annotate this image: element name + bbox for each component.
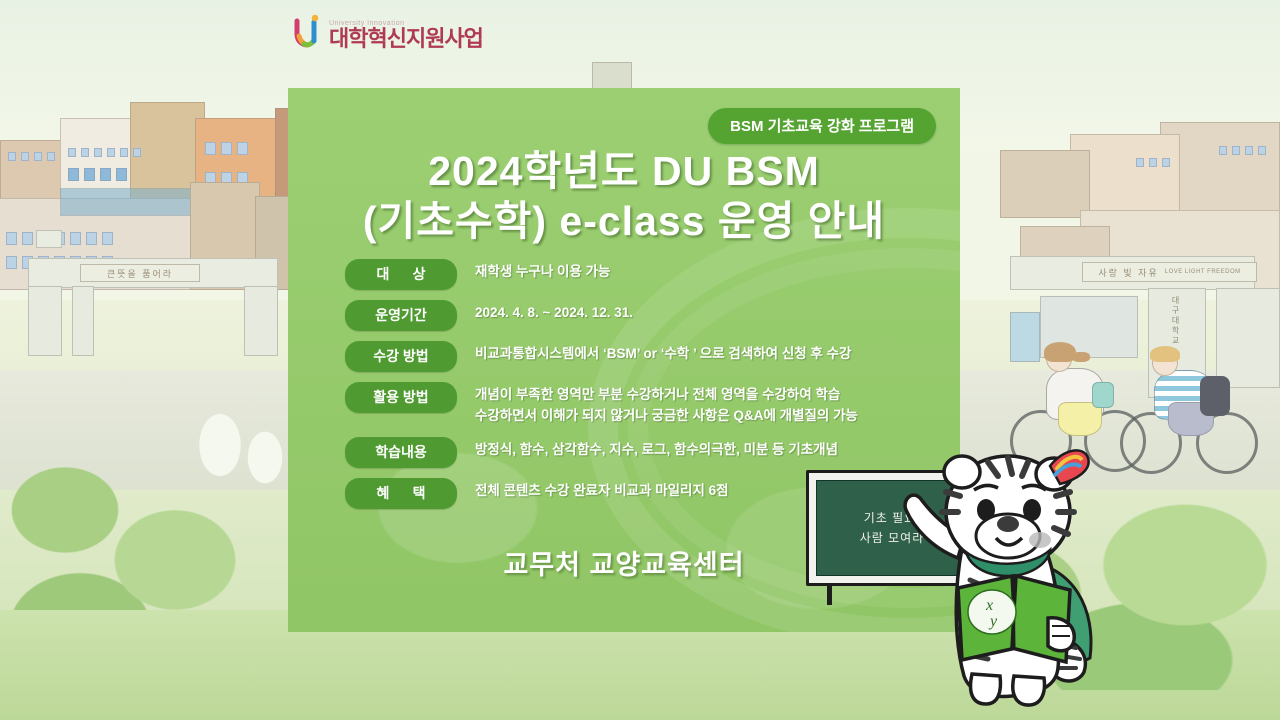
info-value-usage: 개념이 부족한 영역만 부분 수강하거나 전체 영역을 수강하여 학습 수강하면… bbox=[475, 382, 858, 427]
info-label-enrollment: 수강 방법 bbox=[345, 341, 457, 372]
gate-sign-left-label: 큰뜻을 품어라 bbox=[107, 267, 173, 280]
leg-right bbox=[1013, 676, 1045, 705]
book-label-y: y bbox=[988, 613, 998, 630]
book-label-x: x bbox=[985, 597, 993, 614]
leg-left bbox=[971, 674, 1001, 704]
info-value-period: 2024. 4. 8. ~ 2024. 12. 31. bbox=[475, 300, 633, 324]
info-value-benefit: 전체 콘텐츠 수강 완료자 비교과 마일리지 6점 bbox=[475, 478, 729, 502]
chalkboard-leg-left bbox=[827, 583, 832, 605]
info-label-curriculum: 학습내용 bbox=[345, 437, 457, 468]
gate-pillar-text: 대구대학교 bbox=[1170, 296, 1181, 346]
info-row-usage: 활용 방법 개념이 부족한 영역만 부분 수강하거나 전체 영역을 수강하여 학… bbox=[345, 382, 955, 427]
poster-canvas: 큰뜻을 품어라 사랑 빛 자유 LOVE LIGHT FREEDOM 대구대학교 bbox=[0, 0, 1280, 720]
info-row-target: 대 상 재학생 누구나 이용 가능 bbox=[345, 259, 955, 290]
info-label-benefit: 혜 택 bbox=[345, 478, 457, 509]
gate-sign-left-text: 큰뜻을 품어라 bbox=[80, 264, 200, 282]
program-badge: BSM 기초교육 강화 프로그램 bbox=[708, 108, 936, 144]
info-value-enrollment: 비교과통합시스템에서 ‘BSM’ or ‘수학 ’ 으로 검색하여 신청 후 수… bbox=[475, 341, 851, 365]
nose bbox=[997, 516, 1019, 532]
university-innovation-logo: University Innovation 대학혁신지원사업 bbox=[292, 14, 483, 50]
info-value-target: 재학생 누구나 이용 가능 bbox=[475, 259, 610, 283]
ear-left bbox=[944, 456, 980, 488]
info-row-curriculum: 학습내용 방정식, 함수, 삼각함수, 지수, 로그, 함수의극한, 미분 등 … bbox=[345, 437, 955, 468]
info-label-period: 운영기간 bbox=[345, 300, 457, 331]
logo-mark-icon bbox=[292, 14, 322, 50]
blush bbox=[1029, 532, 1051, 548]
gate-sign-right-label: 사랑 빛 자유 bbox=[1098, 266, 1158, 279]
gate-sign-right-english: LOVE LIGHT FREEDOM bbox=[1165, 269, 1241, 275]
info-row-enrollment: 수강 방법 비교과통합시스템에서 ‘BSM’ or ‘수학 ’ 으로 검색하여 … bbox=[345, 341, 955, 372]
info-label-target: 대 상 bbox=[345, 259, 457, 290]
logo-title: 대학혁신지원사업 bbox=[329, 28, 483, 50]
info-value-curriculum: 방정식, 함수, 삼각함수, 지수, 로그, 함수의극한, 미분 등 기초개념 bbox=[475, 437, 838, 461]
tiger-mascot: x y bbox=[900, 440, 1130, 710]
gate-sign-right-text: 사랑 빛 자유 LOVE LIGHT FREEDOM bbox=[1082, 262, 1257, 282]
info-row-period: 운영기간 2024. 4. 8. ~ 2024. 12. 31. bbox=[345, 300, 955, 331]
page-title: 2024학년도 DU BSM (기초수학) e-class 운영 안내 bbox=[288, 146, 960, 246]
info-label-usage: 활용 방법 bbox=[345, 382, 457, 413]
